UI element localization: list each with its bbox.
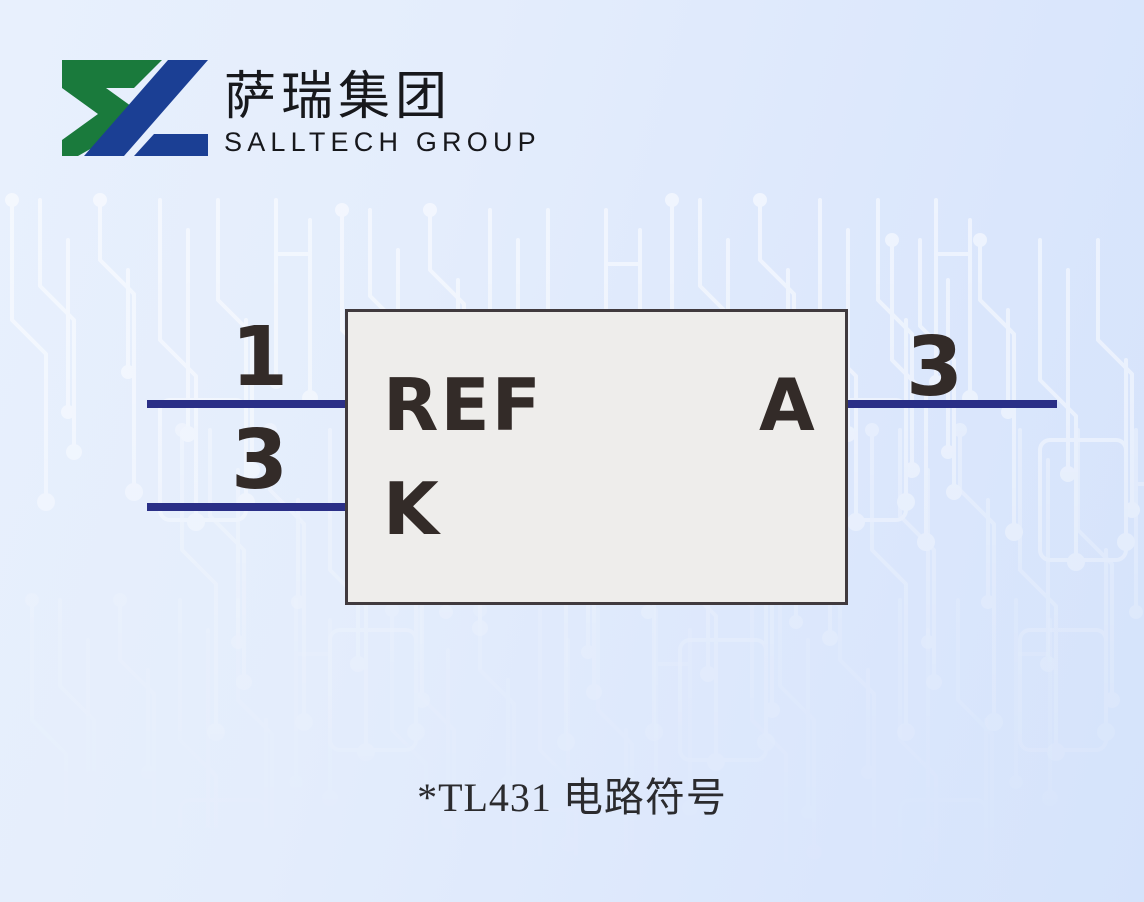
port-label-k: K (383, 473, 439, 545)
pin-number-1-label: 1 (231, 317, 288, 399)
page-root: 萨瑞集团 SALLTECH GROUP 1 3 3 REF K A *TL431… (0, 0, 1144, 902)
port-label-ref: REF (383, 369, 543, 441)
ic-body-box (345, 309, 848, 605)
port-label-a: A (759, 369, 815, 441)
figure-caption: *TL431 电路符号 (0, 765, 1144, 823)
pin-number-3-right-label: 3 (906, 327, 963, 409)
pin-number-3-left-label: 3 (231, 420, 288, 502)
